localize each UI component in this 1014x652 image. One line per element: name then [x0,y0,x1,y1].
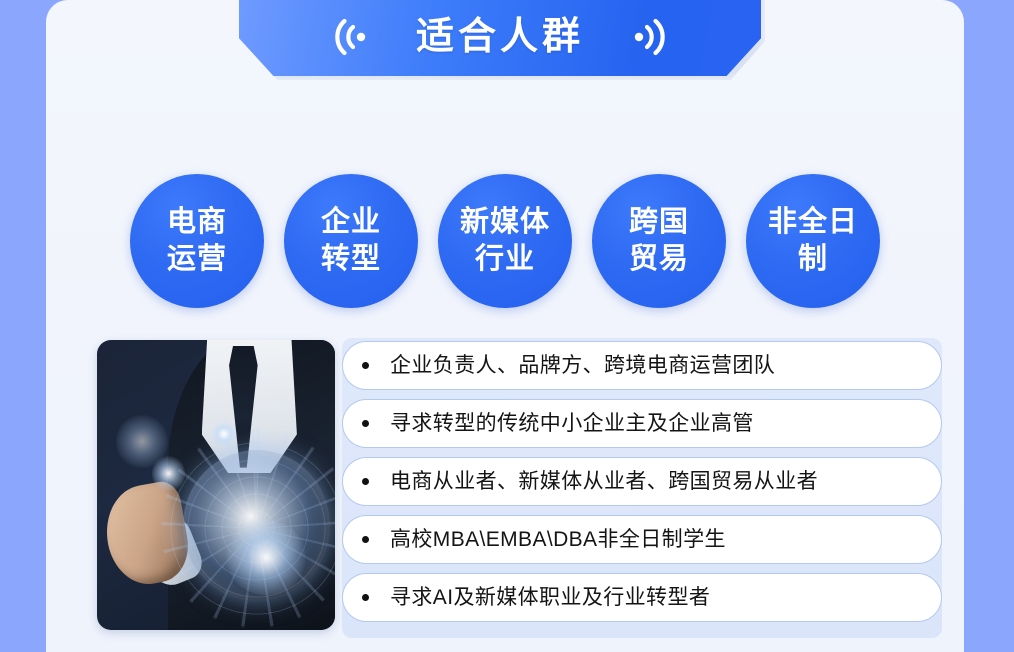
badge-line-1: 电商 [167,204,227,241]
list-item[interactable]: 寻求AI及新媒体职业及行业转型者 [342,573,942,622]
businessman-digital-globe-photo [97,340,335,630]
badge-line-2: 制 [798,241,828,278]
list-item-label: 寻求转型的传统中小企业主及企业高管 [390,413,754,434]
banner-title: 适合人群 [416,18,584,56]
list-item[interactable]: 电商从业者、新媒体从业者、跨国贸易从业者 [342,457,942,506]
badge-line-2: 行业 [475,241,535,278]
list-item-label: 电商从业者、新媒体从业者、跨国贸易从业者 [390,471,818,492]
audience-detail-section: 企业负责人、品牌方、跨境电商运营团队 寻求转型的传统中小企业主及企业高管 电商从… [46,330,964,652]
list-item-label: 企业负责人、品牌方、跨境电商运营团队 [390,355,775,376]
badge-line-2: 转型 [321,241,381,278]
audience-list: 企业负责人、品牌方、跨境电商运营团队 寻求转型的传统中小企业主及企业高管 电商从… [342,341,942,622]
list-item[interactable]: 企业负责人、品牌方、跨境电商运营团队 [342,341,942,390]
badge-line-1: 新媒体 [460,204,550,241]
bullet-icon [362,362,369,369]
audience-category-badges: 电商 运营 企业 转型 新媒体 行业 跨国 贸易 非全日 制 [46,166,964,316]
badge-enterprise-transformation[interactable]: 企业 转型 [284,174,418,308]
bullet-icon [362,420,369,427]
sound-wave-left-icon [326,14,370,60]
badge-line-1: 非全日 [768,204,858,241]
bullet-icon [362,536,369,543]
badge-line-1: 企业 [321,204,381,241]
badge-line-1: 跨国 [629,204,689,241]
list-item[interactable]: 寻求转型的传统中小企业主及企业高管 [342,399,942,448]
bullet-icon [362,478,369,485]
list-item[interactable]: 高校MBA\EMBA\DBA非全日制学生 [342,515,942,564]
header-banner: 适合人群 [239,0,761,76]
poster-page: 适合人群 电商 运营 企业 转型 新媒体 行业 跨国 贸易 [0,0,1014,652]
badge-new-media-industry[interactable]: 新媒体 行业 [438,174,572,308]
bullet-icon [362,594,369,601]
badge-line-2: 运营 [167,241,227,278]
badge-ecommerce-operations[interactable]: 电商 运营 [130,174,264,308]
sound-wave-right-icon [630,14,674,60]
badge-cross-border-trade[interactable]: 跨国 贸易 [592,174,726,308]
badge-line-2: 贸易 [629,241,689,278]
badge-part-time[interactable]: 非全日 制 [746,174,880,308]
list-item-label: 寻求AI及新媒体职业及行业转型者 [390,587,710,608]
list-item-label: 高校MBA\EMBA\DBA非全日制学生 [390,529,726,550]
